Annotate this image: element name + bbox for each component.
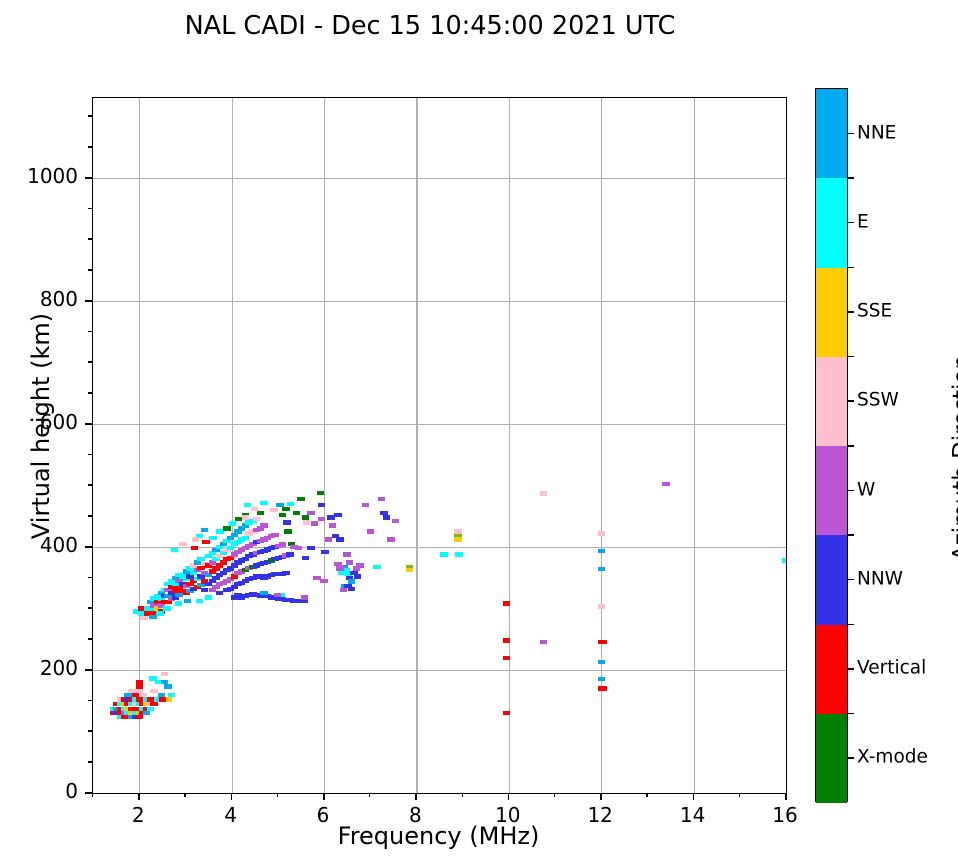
gridline-vertical xyxy=(232,98,233,793)
echo-data-point xyxy=(455,552,462,556)
colorbar-label-nnw: NNW xyxy=(857,568,903,589)
echo-data-point xyxy=(175,593,182,597)
page-title: NAL CADI - Dec 15 10:45:00 2021 UTC xyxy=(0,11,860,41)
echo-data-point xyxy=(227,556,234,560)
echo-data-point xyxy=(343,552,350,556)
echo-data-point xyxy=(440,552,447,556)
echo-data-point xyxy=(598,604,605,608)
echo-data-point xyxy=(163,606,170,610)
echo-data-point xyxy=(293,511,300,515)
echo-data-point xyxy=(184,599,191,603)
echo-data-point xyxy=(334,513,341,517)
colorbar-label-x-mode: X-mode xyxy=(857,747,928,768)
ionogram-figure: NAL CADI - Dec 15 10:45:00 2021 UTC Freq… xyxy=(0,0,958,857)
x-tick-major xyxy=(323,793,325,800)
echo-data-point xyxy=(216,591,223,595)
echo-data-point xyxy=(302,556,309,560)
y-tick-major xyxy=(85,792,92,794)
echo-data-point xyxy=(150,702,157,706)
echo-data-point xyxy=(179,542,186,546)
echo-data-point xyxy=(283,520,290,524)
gridline-horizontal xyxy=(93,670,786,671)
x-tick-major xyxy=(600,793,602,800)
echo-data-point xyxy=(271,533,278,537)
echo-data-point xyxy=(196,599,203,603)
echo-data-point xyxy=(253,517,260,521)
colorbar-title: Azimuth Direction xyxy=(949,278,958,638)
echo-data-point xyxy=(202,540,209,544)
echo-data-point xyxy=(287,502,294,506)
colorbar-label-ssw: SSW xyxy=(857,390,899,411)
echo-data-point xyxy=(325,537,332,541)
x-tick-label: 14 xyxy=(663,803,723,827)
echo-data-point xyxy=(336,537,343,541)
gridline-vertical xyxy=(416,98,417,793)
echo-data-point xyxy=(231,574,238,578)
echo-data-point xyxy=(329,523,336,527)
gridline-vertical xyxy=(694,98,695,793)
echo-data-point xyxy=(540,491,547,495)
echo-data-point xyxy=(175,601,182,605)
colorbar-label-w: W xyxy=(857,479,875,500)
colorbar-boundary-tick xyxy=(848,624,854,626)
echo-data-point xyxy=(302,515,309,519)
colorbar-segment-w[interactable] xyxy=(816,446,847,535)
y-tick-label: 200 xyxy=(0,656,78,680)
plot-area xyxy=(93,98,786,793)
echo-data-point xyxy=(387,537,394,541)
azimuth-colorbar[interactable] xyxy=(815,88,848,802)
y-tick-label: 800 xyxy=(0,287,78,311)
echo-data-point xyxy=(356,563,363,567)
x-tick-label: 4 xyxy=(201,803,261,827)
colorbar-segment-nne[interactable] xyxy=(816,89,847,178)
echo-data-point xyxy=(598,549,605,553)
echo-data-point xyxy=(279,513,286,517)
colorbar-tick xyxy=(848,133,854,135)
echo-data-point xyxy=(197,566,204,570)
echo-data-point xyxy=(598,660,605,664)
echo-data-point xyxy=(598,531,605,535)
echo-data-point xyxy=(279,542,286,546)
gridline-vertical xyxy=(324,98,325,793)
colorbar-tick xyxy=(848,400,854,402)
echo-data-point xyxy=(201,528,208,532)
gridline-horizontal xyxy=(93,178,786,179)
x-tick-label: 16 xyxy=(755,803,815,827)
x-tick-label: 8 xyxy=(385,803,445,827)
colorbar-tick xyxy=(848,311,854,313)
echo-data-point xyxy=(244,503,251,507)
echo-data-point xyxy=(229,521,236,525)
echo-data-point xyxy=(270,508,277,512)
colorbar-boundary-tick xyxy=(848,267,854,269)
echo-data-point xyxy=(301,595,308,599)
echo-data-point xyxy=(260,501,267,505)
x-tick-major xyxy=(231,793,233,800)
gridline-horizontal xyxy=(93,424,786,425)
echo-data-point xyxy=(600,640,607,644)
echo-data-point xyxy=(354,574,361,578)
echo-data-point xyxy=(201,588,208,592)
colorbar-tick xyxy=(848,579,854,581)
echo-data-point xyxy=(336,566,343,570)
y-tick-major xyxy=(85,177,92,179)
gridline-horizontal xyxy=(93,301,786,302)
echo-data-point xyxy=(171,548,178,552)
echo-data-point xyxy=(274,593,281,597)
echo-data-point xyxy=(373,565,380,569)
echo-data-point xyxy=(209,536,216,540)
echo-data-point xyxy=(164,684,171,688)
echo-data-point xyxy=(307,511,314,515)
colorbar-boundary-tick xyxy=(848,445,854,447)
echo-data-point xyxy=(295,546,302,550)
colorbar-tick xyxy=(848,222,854,224)
x-tick-major xyxy=(508,793,510,800)
colorbar-tick xyxy=(848,757,854,759)
echo-data-point xyxy=(143,711,150,715)
colorbar-segment-ssw[interactable] xyxy=(816,357,847,446)
colorbar-boundary-tick xyxy=(848,713,854,715)
y-tick-major xyxy=(85,669,92,671)
echo-data-point xyxy=(338,571,345,575)
echo-data-point xyxy=(662,482,669,486)
echo-data-point xyxy=(284,529,291,533)
colorbar-label-nne: NNE xyxy=(857,122,896,143)
gridline-vertical xyxy=(509,98,510,793)
echo-data-point xyxy=(223,526,230,530)
colorbar-boundary-tick xyxy=(848,177,854,179)
echo-data-point xyxy=(147,707,154,711)
echo-data-point xyxy=(321,550,328,554)
echo-data-point xyxy=(340,588,347,592)
echo-data-point xyxy=(260,523,267,527)
echo-data-point xyxy=(149,615,156,619)
y-tick-major xyxy=(85,300,92,302)
echo-data-point xyxy=(136,715,143,719)
echo-data-point xyxy=(318,517,325,521)
echo-data-point xyxy=(260,591,267,595)
echo-data-point xyxy=(227,546,234,550)
echo-data-point xyxy=(503,711,510,715)
echo-data-point xyxy=(327,515,334,519)
colorbar-label-vertical: Vertical xyxy=(857,658,926,679)
echo-data-point xyxy=(598,677,605,681)
colorbar-boundary-tick xyxy=(848,356,854,358)
echo-data-point xyxy=(503,601,510,605)
echo-data-point xyxy=(303,520,310,524)
echo-data-point xyxy=(320,579,327,583)
echo-data-point xyxy=(383,515,390,519)
echo-data-point xyxy=(307,546,314,550)
echo-data-point xyxy=(454,529,461,533)
echo-data-point xyxy=(297,497,304,501)
echo-data-point xyxy=(197,574,204,578)
echo-data-point xyxy=(257,511,264,515)
y-tick-label: 400 xyxy=(0,533,78,557)
echo-data-point xyxy=(313,576,320,580)
y-tick-label-column: 02004006008001000 xyxy=(0,0,78,857)
x-tick-major xyxy=(138,793,140,800)
x-tick-label: 12 xyxy=(570,803,630,827)
colorbar-segment-vertical[interactable] xyxy=(816,625,847,714)
echo-data-point xyxy=(782,558,786,562)
echo-data-point xyxy=(191,546,198,550)
colorbar-tick xyxy=(848,668,854,670)
echo-data-point xyxy=(136,680,143,684)
x-tick-major xyxy=(693,793,695,800)
colorbar-label-e: E xyxy=(857,211,869,232)
echo-data-point xyxy=(301,599,308,603)
echo-data-point xyxy=(140,616,147,620)
echo-data-point xyxy=(150,689,157,693)
echo-data-point xyxy=(406,568,413,572)
colorbar-segment-e[interactable] xyxy=(816,178,847,267)
echo-data-point xyxy=(503,656,510,660)
colorbar-segment-sse[interactable] xyxy=(816,268,847,357)
y-tick-label: 600 xyxy=(0,410,78,434)
echo-data-point xyxy=(311,521,318,525)
echo-data-point xyxy=(197,557,204,561)
echo-data-point xyxy=(367,529,374,533)
y-tick-major xyxy=(85,546,92,548)
echo-data-point xyxy=(205,595,212,599)
echo-data-point xyxy=(362,503,369,507)
echo-data-point xyxy=(197,583,204,587)
echo-data-point xyxy=(378,497,385,501)
echo-data-point xyxy=(282,571,289,575)
colorbar-boundary-tick xyxy=(848,534,854,536)
echo-data-point xyxy=(317,491,324,495)
echo-data-point xyxy=(454,537,461,541)
y-tick-major xyxy=(85,423,92,425)
echo-data-point xyxy=(242,536,249,540)
echo-data-point xyxy=(598,567,605,571)
echo-data-point xyxy=(192,537,199,541)
colorbar-segment-x-mode[interactable] xyxy=(816,714,847,803)
echo-data-point xyxy=(318,503,325,507)
plot-frame xyxy=(92,97,787,794)
echo-data-point xyxy=(348,587,355,591)
echo-data-point xyxy=(156,611,163,615)
echo-data-point xyxy=(334,562,341,566)
x-tick-major xyxy=(415,793,417,800)
x-tick-label: 6 xyxy=(293,803,353,827)
echo-data-point xyxy=(161,672,168,676)
echo-data-point xyxy=(540,640,547,644)
colorbar-tick xyxy=(848,490,854,492)
x-tick-label: 10 xyxy=(478,803,538,827)
echo-data-point xyxy=(348,579,355,583)
echo-data-point xyxy=(242,515,249,519)
echo-data-point xyxy=(392,519,399,523)
echo-data-point xyxy=(503,638,510,642)
colorbar-label-sse: SSE xyxy=(857,301,892,322)
x-tick-label: 2 xyxy=(108,803,168,827)
y-tick-label: 0 xyxy=(0,779,78,803)
y-tick-label: 1000 xyxy=(0,164,78,188)
echo-data-point xyxy=(600,686,607,690)
x-tick-major xyxy=(785,793,787,800)
echo-data-point xyxy=(282,507,289,511)
echo-data-point xyxy=(286,552,293,556)
colorbar-segment-nnw[interactable] xyxy=(816,535,847,624)
echo-data-point xyxy=(251,507,258,511)
echo-data-point xyxy=(159,697,166,701)
